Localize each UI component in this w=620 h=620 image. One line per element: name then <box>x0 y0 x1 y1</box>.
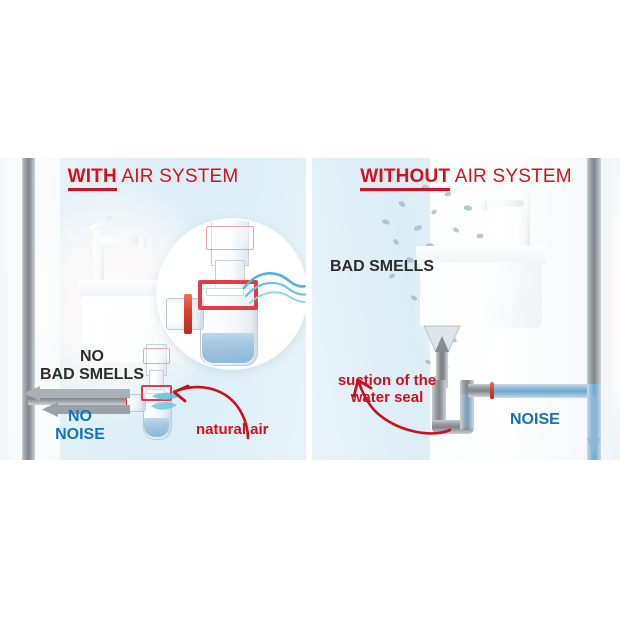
label-natural-air: natural air <box>196 422 269 439</box>
panel-title-right-light: AIR SYSTEM <box>450 166 572 187</box>
label-bad-smells: BAD SMELLS <box>330 258 434 276</box>
panel-without-air-system: BAD SMELLS suction of the water seal NOI… <box>312 158 620 460</box>
label-noise: NOISE <box>510 411 560 429</box>
faucet-spout-tip-right <box>480 200 487 211</box>
zoom-air-valve-slot <box>206 288 244 296</box>
faucet-spout-right <box>482 200 524 207</box>
panel-title-left-strong: WITH <box>68 166 117 191</box>
panel-title-left-light: AIR SYSTEM <box>117 166 239 187</box>
zoom-red-membrane <box>184 294 192 334</box>
panel-title-left: WITH AIR SYSTEM <box>0 166 306 188</box>
air-stream-icon <box>242 264 306 308</box>
label-no-bad-smells: NO BAD SMELLS <box>22 348 162 384</box>
comparison-figure: NO BAD SMELLS NO NOISE natural air WITH … <box>0 158 620 460</box>
label-suction-of-water-seal: suction of the water seal <box>326 373 448 407</box>
label-no-noise: NO NOISE <box>32 408 128 444</box>
zoom-trap-water <box>202 333 254 363</box>
waste-pipe-right <box>494 384 600 398</box>
faucet-spout-tip-left <box>139 237 146 248</box>
magnifier-circle-icon <box>158 220 306 368</box>
panel-title-right: WITHOUT AIR SYSTEM <box>312 166 620 188</box>
drain-stack-pipe-right <box>587 158 601 390</box>
basin-body-right <box>420 262 542 328</box>
noise-down-arrow-icon <box>586 394 602 456</box>
trap-seal-water-right <box>461 394 473 428</box>
panel-title-right-strong: WITHOUT <box>360 166 450 191</box>
zoom-upper-collar <box>206 226 254 250</box>
panel-with-air-system: NO BAD SMELLS NO NOISE natural air WITH … <box>0 158 306 460</box>
illustration-page: NO BAD SMELLS NO NOISE natural air WITH … <box>0 0 620 620</box>
